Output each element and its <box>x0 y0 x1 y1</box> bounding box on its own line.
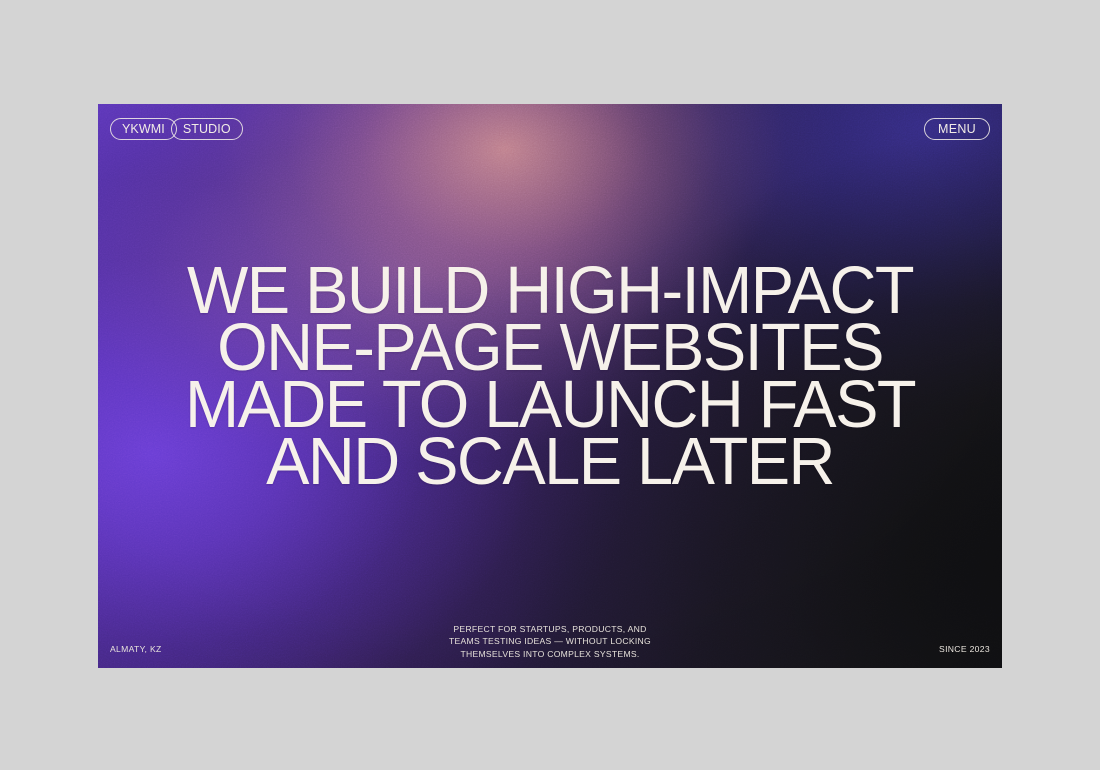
tagline-line-1: PERFECT FOR STARTUPS, PRODUCTS, AND <box>385 623 715 635</box>
location-label: ALMATY, KZ <box>110 645 162 654</box>
tagline-line-2: TEAMS TESTING IDEAS — WITHOUT LOCKING <box>385 635 715 647</box>
hero-section: YKWMI STUDIO MENU WE BUILD HIGH-IMPACT O… <box>98 104 1002 668</box>
since-label: SINCE 2023 <box>939 645 990 654</box>
top-bar: YKWMI STUDIO MENU <box>110 114 990 144</box>
hero-tagline: PERFECT FOR STARTUPS, PRODUCTS, AND TEAM… <box>385 623 715 660</box>
logo-studio-pill[interactable]: STUDIO <box>171 118 243 140</box>
logo[interactable]: YKWMI STUDIO <box>110 118 243 140</box>
page-root: YKWMI STUDIO MENU WE BUILD HIGH-IMPACT O… <box>0 0 1100 770</box>
hero-content: YKWMI STUDIO MENU WE BUILD HIGH-IMPACT O… <box>98 104 1002 668</box>
hero-headline: WE BUILD HIGH-IMPACT ONE-PAGE WEBSITES M… <box>112 262 989 490</box>
menu-button[interactable]: MENU <box>924 118 990 140</box>
tagline-line-3: THEMSELVES INTO COMPLEX SYSTEMS. <box>385 648 715 660</box>
logo-brand-pill[interactable]: YKWMI <box>110 118 177 140</box>
hero-footer: ALMATY, KZ PERFECT FOR STARTUPS, PRODUCT… <box>110 604 990 660</box>
